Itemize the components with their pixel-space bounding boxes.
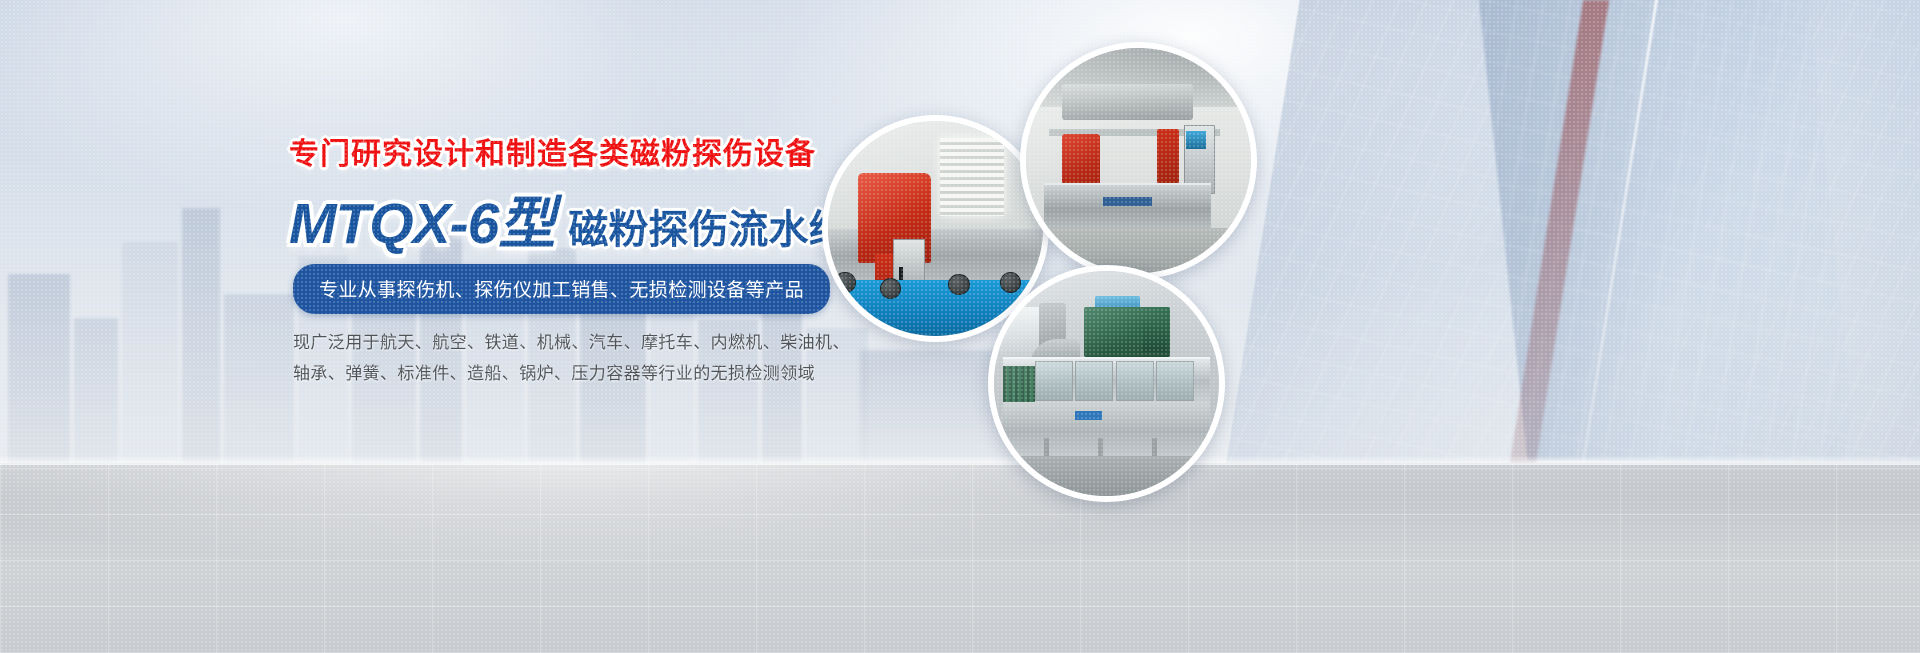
title-product: 磁粉探伤流水线 [568, 197, 848, 255]
promo-banner: 专门研究设计和制造各类磁粉探伤设备 MTQX-6型 磁粉探伤流水线 专业从事探伤… [0, 0, 1920, 653]
description-block: 现广泛用于航天、航空、铁道、机械、汽车、摩托车、内燃机、柴油机、 轴承、弹簧、标… [293, 327, 813, 389]
main-title: MTQX-6型 磁粉探伤流水线 [289, 178, 848, 260]
description-line-2: 轴承、弹簧、标准件、造船、锅炉、压力容器等行业的无损检测领域 [293, 358, 813, 389]
photo-2-content [1026, 48, 1251, 273]
photo-workshop-cabinet[interactable] [1020, 42, 1257, 279]
headline-red: 专门研究设计和制造各类磁粉探伤设备 [289, 129, 816, 173]
photo-production-line[interactable] [988, 265, 1225, 502]
tagline-pill[interactable]: 专业从事探伤机、探伤仪加工销售、无损检测设备等产品 [293, 264, 830, 314]
description-line-1: 现广泛用于航天、航空、铁道、机械、汽车、摩托车、内燃机、柴油机、 [293, 327, 813, 358]
photo-sheen [994, 271, 1219, 496]
title-model: MTQX-6型 [289, 178, 554, 260]
photo-sheen [1026, 48, 1251, 273]
photo-3-content [994, 271, 1219, 496]
banner-copy: 专门研究设计和制造各类磁粉探伤设备 MTQX-6型 磁粉探伤流水线 专业从事探伤… [0, 0, 840, 653]
